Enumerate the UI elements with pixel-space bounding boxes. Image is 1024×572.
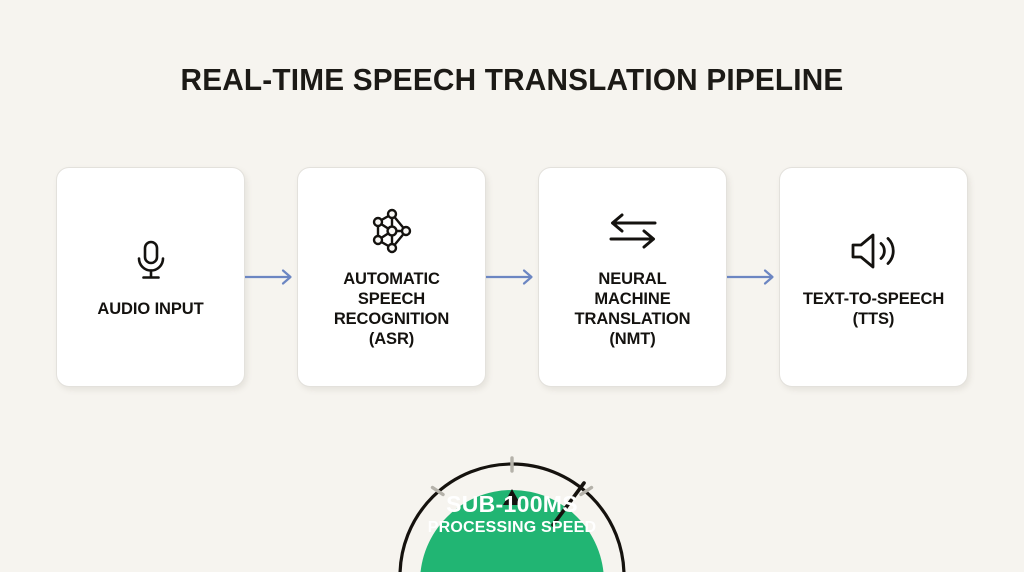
connector-arrow-2 <box>486 267 538 287</box>
pipeline-flow: AUDIO INPUT <box>56 167 968 387</box>
infographic-canvas: REAL-TIME SPEECH TRANSLATION PIPELINE AU… <box>0 0 1024 572</box>
processing-speed-gauge: SUB-100MS PROCESSING SPEED <box>394 406 630 572</box>
pipeline-step-label: AUDIO INPUT <box>89 299 211 319</box>
connector-arrow-1 <box>245 267 297 287</box>
exchange-arrows-icon <box>607 205 659 257</box>
pipeline-step-audio-input[interactable]: AUDIO INPUT <box>56 167 245 387</box>
pipeline-step-label: TEXT-TO-SPEECH (TTS) <box>795 289 952 329</box>
pipeline-step-tts[interactable]: TEXT-TO-SPEECH (TTS) <box>779 167 968 387</box>
pipeline-step-label: AUTOMATIC SPEECH RECOGNITION (ASR) <box>326 269 457 349</box>
pipeline-step-nmt[interactable]: NEURAL MACHINE TRANSLATION (NMT) <box>538 167 727 387</box>
page-title: REAL-TIME SPEECH TRANSLATION PIPELINE <box>20 62 1003 98</box>
microphone-icon <box>131 235 171 287</box>
neural-network-icon <box>368 205 416 257</box>
connector-arrow-3 <box>727 267 779 287</box>
pipeline-step-asr[interactable]: AUTOMATIC SPEECH RECOGNITION (ASR) <box>297 167 486 387</box>
speaker-icon <box>849 225 899 277</box>
pipeline-step-label: NEURAL MACHINE TRANSLATION (NMT) <box>567 269 699 349</box>
